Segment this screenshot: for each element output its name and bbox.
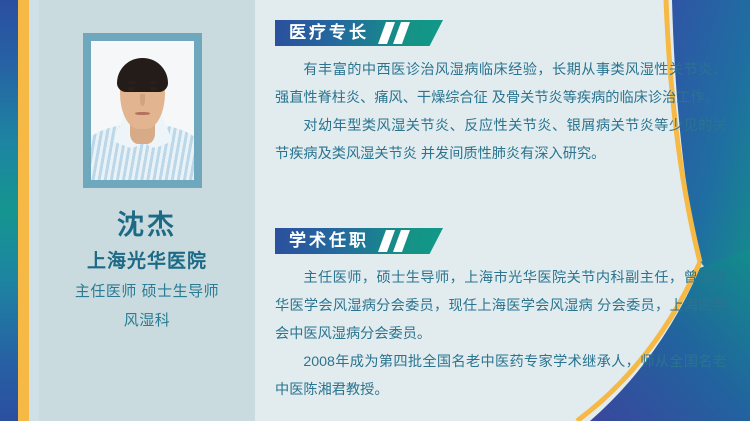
section-medical-specialty: 医疗专长 有丰富的中西医诊治风湿病临床经验，长期从事类风湿性关节炎、强直性脊柱炎…	[275, 20, 727, 168]
left-stripe-pale	[29, 0, 39, 421]
paragraph: 有丰富的中西医诊治风湿病临床经验，长期从事类风湿性关节炎、强直性脊柱炎、痛风、干…	[275, 56, 727, 112]
doctor-hospital: 上海光华医院	[39, 246, 255, 273]
paragraph: 2008年成为第四批全国名老中医药专家学术继承人，师从全国名老中医陈湘君教授。	[275, 348, 727, 404]
banner-label: 学术任职	[289, 228, 369, 254]
paragraph: 主任医师，硕士生导师，上海市光华医院关节内科副主任，曾任中华医学会风湿病分会委员…	[275, 264, 727, 348]
paragraph: 对幼年型类风湿关节炎、反应性关节炎、银屑病关节炎等少见的关节疾病及类风湿关节炎 …	[275, 112, 727, 168]
portrait-mouth	[135, 112, 149, 115]
doctor-title: 主任医师 硕士生导师	[39, 280, 255, 301]
section-banner-academic-appointments: 学术任职	[275, 228, 443, 254]
profile-right-panel: 医疗专长 有丰富的中西医诊治风湿病临床经验，长期从事类风湿性关节炎、强直性脊柱炎…	[255, 0, 750, 421]
left-stripe-gradient	[0, 0, 18, 421]
doctor-photo	[91, 41, 194, 180]
section-body-academic-appointments: 主任医师，硕士生导师，上海市光华医院关节内科副主任，曾任中华医学会风湿病分会委员…	[275, 264, 727, 404]
doctor-photo-frame	[83, 33, 202, 188]
section-banner-medical-specialty: 医疗专长	[275, 20, 443, 46]
portrait-eye-right	[150, 87, 157, 91]
left-stripe-yellow	[18, 0, 29, 421]
doctor-department: 风湿科	[39, 309, 255, 330]
section-body-medical-specialty: 有丰富的中西医诊治风湿病临床经验，长期从事类风湿性关节炎、强直性脊柱炎、痛风、干…	[275, 56, 727, 168]
section-academic-appointments: 学术任职 主任医师，硕士生导师，上海市光华医院关节内科副主任，曾任中华医学会风湿…	[275, 228, 727, 404]
banner-label: 医疗专长	[289, 20, 369, 46]
doctor-profile-card: 沈杰 上海光华医院 主任医师 硕士生导师 风湿科 医疗专长 有丰富的中西医诊治风…	[0, 0, 750, 421]
doctor-name: 沈杰	[39, 203, 255, 242]
